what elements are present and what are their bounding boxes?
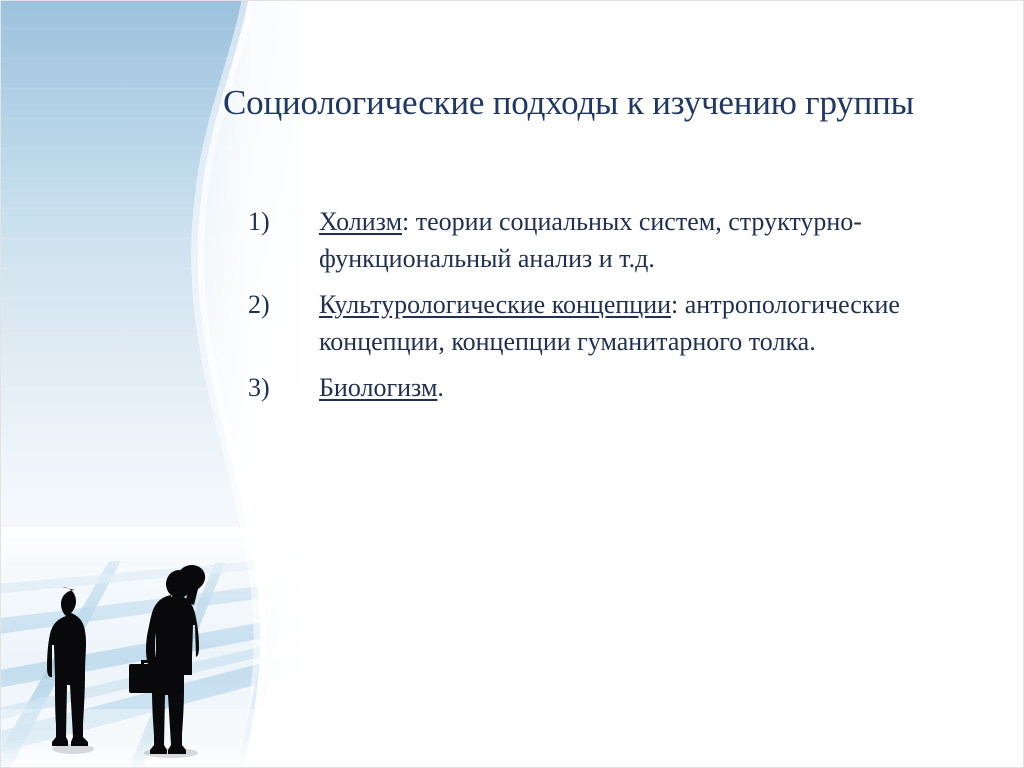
list-marker: 3) bbox=[248, 370, 270, 407]
list-item: 3) Биологизм. bbox=[244, 370, 944, 407]
list-item-term: Холизм bbox=[319, 207, 402, 236]
list-item-description: . bbox=[437, 373, 444, 402]
list-item-term: Биологизм bbox=[319, 373, 437, 402]
list-item: 2) Культурологические концепции: антропо… bbox=[244, 287, 944, 361]
page-title: Социологические подходы к изучению групп… bbox=[223, 83, 1023, 122]
approaches-list: 1) Холизм: теории социальных систем, стр… bbox=[244, 204, 944, 416]
list-item-term: Культурологические концепции bbox=[319, 290, 671, 319]
presentation-slide: Социологические подходы к изучению групп… bbox=[0, 0, 1024, 768]
list-item: 1) Холизм: теории социальных систем, стр… bbox=[244, 204, 944, 278]
slide-content: Социологические подходы к изучению групп… bbox=[1, 1, 1024, 768]
list-marker: 1) bbox=[248, 204, 270, 241]
list-marker: 2) bbox=[248, 287, 270, 324]
